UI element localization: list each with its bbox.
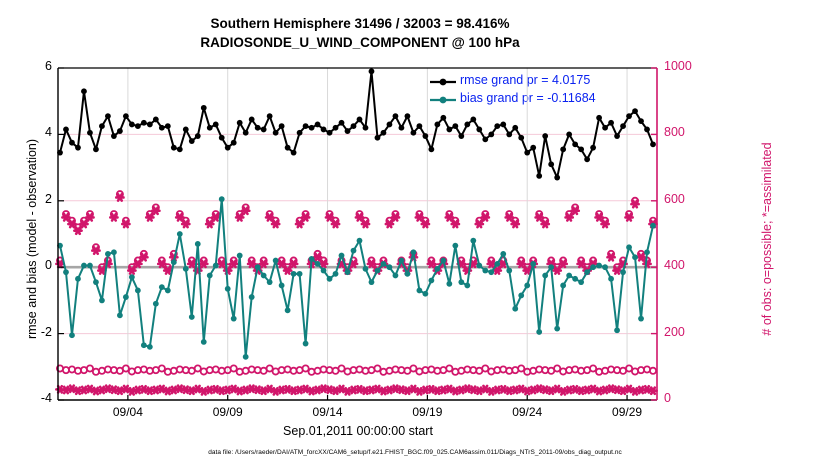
obs-assimilated-marker — [80, 221, 87, 227]
obs-assimilated-marker — [302, 214, 309, 220]
series-point-rmse — [153, 117, 159, 123]
series-point-rmse — [99, 123, 105, 129]
series-point-bias — [375, 268, 381, 274]
obs-assimilated-marker — [122, 221, 129, 227]
obs-assimilated-marker — [416, 214, 423, 220]
obs-assimilated-marker — [134, 261, 141, 267]
series-point-bias — [381, 261, 387, 267]
obs-assimilated-marker — [631, 201, 638, 207]
obs-assimilated-marker — [74, 228, 81, 234]
series-point-bias — [141, 342, 147, 348]
obs-assimilated-marker — [272, 221, 279, 227]
obs-possible-marker — [650, 368, 656, 374]
series-point-rmse — [117, 128, 123, 134]
series-point-bias — [117, 312, 123, 318]
series-point-rmse — [249, 117, 255, 123]
obs-assimilated-marker — [518, 261, 525, 267]
series-point-bias — [644, 249, 650, 255]
series-point-bias — [81, 263, 87, 269]
series-point-bias — [482, 268, 488, 274]
series-point-rmse — [285, 145, 291, 151]
series-point-bias — [387, 264, 393, 270]
series-point-rmse — [536, 173, 542, 179]
series-point-rmse — [578, 146, 584, 152]
series-point-rmse — [291, 150, 297, 156]
series-point-bias — [249, 294, 255, 300]
series-point-rmse — [75, 145, 81, 151]
series-point-bias — [171, 259, 177, 265]
series-point-rmse — [542, 133, 548, 139]
series-point-bias — [219, 196, 225, 202]
obs-assimilated-marker — [542, 221, 549, 227]
obs-assimilated-marker — [128, 267, 135, 273]
series-point-bias — [596, 263, 602, 269]
series-point-rmse — [225, 145, 231, 151]
series-point-rmse — [147, 122, 153, 128]
series-point-rmse — [512, 125, 518, 131]
series-point-rmse — [93, 146, 99, 152]
series-point-rmse — [111, 133, 117, 139]
obs-assimilated-marker — [613, 267, 620, 273]
obs-assimilated-marker — [607, 254, 614, 260]
obs-assimilated-marker — [572, 208, 579, 214]
series-point-bias — [285, 307, 291, 313]
series-point-bias — [632, 254, 638, 260]
obs-assimilated-marker — [200, 261, 207, 267]
obs-assimilated-marker — [296, 221, 303, 227]
series-point-bias — [566, 273, 572, 279]
series-point-rmse — [644, 127, 650, 133]
series-point-bias — [231, 316, 237, 322]
obs-assimilated-marker — [314, 254, 321, 260]
obs-assimilated-marker — [248, 261, 255, 267]
series-point-rmse — [381, 130, 387, 136]
series-point-rmse — [452, 123, 458, 129]
series-point-rmse — [297, 130, 303, 136]
series-point-rmse — [213, 122, 219, 128]
series-point-rmse — [243, 130, 249, 136]
series-point-bias — [237, 253, 243, 259]
series-point-rmse — [632, 108, 638, 114]
series-point-rmse — [596, 115, 602, 121]
series-point-bias — [440, 258, 446, 264]
series-point-bias — [351, 248, 357, 254]
obs-assimilated-marker — [536, 214, 543, 220]
series-point-bias — [512, 306, 518, 312]
series-point-bias — [458, 279, 464, 285]
plot-area — [0, 0, 830, 470]
series-point-bias — [614, 327, 620, 333]
obs-assimilated-marker — [601, 221, 608, 227]
series-point-bias — [183, 266, 189, 272]
obs-assimilated-marker — [637, 254, 644, 260]
series-point-bias — [446, 281, 452, 287]
series-point-rmse — [165, 123, 171, 129]
obs-assimilated-marker — [595, 214, 602, 220]
series-point-bias — [405, 271, 411, 277]
series-point-bias — [189, 314, 195, 320]
obs-assimilated-marker — [566, 214, 573, 220]
obs-assimilated-marker — [368, 261, 375, 267]
series-point-bias — [303, 341, 309, 347]
obs-assimilated-marker — [92, 247, 99, 253]
series-point-rmse — [458, 133, 464, 139]
obs-assimilated-marker — [428, 261, 435, 267]
series-point-rmse — [321, 127, 327, 133]
obs-assimilated-marker — [452, 221, 459, 227]
series-point-bias — [309, 256, 315, 262]
obs-assimilated-marker — [182, 221, 189, 227]
obs-assimilated-marker — [320, 261, 327, 267]
series-point-bias — [195, 241, 201, 247]
series-point-rmse — [440, 115, 446, 121]
obs-assimilated-marker — [362, 221, 369, 227]
series-point-rmse — [231, 140, 237, 146]
obs-assimilated-marker — [356, 214, 363, 220]
series-point-bias — [255, 264, 261, 270]
series-point-bias — [602, 264, 608, 270]
series-point-rmse — [141, 120, 147, 126]
series-point-rmse — [399, 125, 405, 131]
series-point-rmse — [309, 125, 315, 131]
series-point-bias — [69, 332, 75, 338]
series-point-rmse — [237, 120, 243, 126]
obs-assimilated-marker — [290, 261, 297, 267]
series-point-rmse — [584, 156, 590, 162]
series-point-bias — [321, 268, 327, 274]
obs-assimilated-marker — [386, 221, 393, 227]
series-point-bias — [626, 244, 632, 250]
legend-marker-0 — [440, 79, 447, 86]
obs-assimilated-marker — [62, 214, 69, 220]
series-point-bias — [530, 261, 536, 267]
obs-assimilated-marker — [158, 261, 165, 267]
series-point-rmse — [434, 122, 440, 128]
series-point-bias — [63, 269, 69, 275]
series-point-rmse — [554, 175, 560, 181]
obs-assimilated-marker — [422, 221, 429, 227]
series-point-bias — [267, 279, 273, 285]
series-point-rmse — [608, 120, 614, 126]
series-point-rmse — [411, 130, 417, 136]
series-point-bias — [524, 283, 530, 289]
obs-assimilated-marker — [266, 214, 273, 220]
series-point-bias — [428, 278, 434, 284]
series-point-bias — [99, 298, 105, 304]
series-point-bias — [291, 271, 297, 277]
series-point-bias — [578, 279, 584, 285]
series-point-rmse — [428, 146, 434, 152]
obs-assimilated-marker — [212, 214, 219, 220]
series-point-rmse — [488, 132, 494, 138]
series-point-bias — [572, 276, 578, 282]
obs-assimilated-marker — [554, 267, 561, 273]
series-point-rmse — [351, 123, 357, 129]
series-point-rmse — [267, 113, 273, 119]
series-point-rmse — [476, 127, 482, 133]
series-point-bias — [333, 271, 339, 277]
series-point-rmse — [123, 113, 129, 119]
series-point-rmse — [506, 132, 512, 138]
obs-assimilated-marker — [488, 261, 495, 267]
series-point-bias — [369, 279, 375, 285]
series-point-rmse — [63, 127, 69, 133]
obs-assimilated-marker — [332, 221, 339, 227]
series-point-rmse — [572, 141, 578, 147]
series-point-rmse — [363, 125, 369, 131]
series-point-rmse — [530, 145, 536, 151]
obs-assimilated-marker — [649, 388, 656, 394]
series-point-bias — [201, 339, 207, 345]
series-point-bias — [213, 263, 219, 269]
series-point-rmse — [494, 123, 500, 129]
series-point-rmse — [387, 122, 393, 128]
series-point-rmse — [470, 117, 476, 123]
series-point-bias — [494, 261, 500, 267]
series-point-rmse — [638, 118, 644, 124]
series-point-rmse — [422, 133, 428, 139]
obs-assimilated-marker — [476, 221, 483, 227]
obs-assimilated-marker — [140, 254, 147, 260]
obs-assimilated-marker — [176, 214, 183, 220]
obs-assimilated-marker — [224, 267, 231, 273]
series-point-bias — [297, 271, 303, 277]
obs-assimilated-marker — [68, 221, 75, 227]
series-point-bias — [147, 344, 153, 350]
series-point-bias — [411, 249, 417, 255]
obs-assimilated-marker — [110, 214, 117, 220]
series-point-rmse — [446, 127, 452, 133]
series-point-bias — [470, 238, 476, 244]
obs-assimilated-marker — [152, 208, 159, 214]
obs-assimilated-marker — [284, 267, 291, 273]
series-point-rmse — [339, 120, 345, 126]
series-point-rmse — [261, 127, 267, 133]
series-point-bias — [422, 291, 428, 297]
series-point-bias — [129, 274, 135, 280]
series-point-bias — [243, 354, 249, 360]
series-point-rmse — [482, 136, 488, 142]
series-point-bias — [207, 273, 213, 279]
series-point-bias — [536, 329, 542, 335]
obs-assimilated-marker — [326, 214, 333, 220]
series-point-rmse — [345, 128, 351, 134]
series-point-bias — [554, 326, 560, 332]
series-point-bias — [177, 231, 183, 237]
series-point-bias — [153, 301, 159, 307]
series-point-rmse — [87, 130, 93, 136]
series-point-bias — [548, 264, 554, 270]
series-point-rmse — [105, 113, 111, 119]
series-point-rmse — [602, 125, 608, 131]
obs-assimilated-marker — [230, 261, 237, 267]
series-point-rmse — [560, 146, 566, 152]
series-point-bias — [584, 269, 590, 275]
series-point-rmse — [315, 122, 321, 128]
series-point-bias — [327, 276, 333, 282]
series-point-bias — [560, 283, 566, 289]
figure-canvas: Southern Hemisphere 31496 / 32003 = 98.4… — [0, 0, 830, 470]
series-point-bias — [273, 258, 279, 264]
series-point-bias — [416, 288, 422, 294]
series-point-rmse — [614, 133, 620, 139]
series-point-rmse — [303, 123, 309, 129]
obs-assimilated-marker — [482, 214, 489, 220]
series-point-rmse — [566, 132, 572, 138]
series-point-rmse — [375, 135, 381, 141]
series-point-rmse — [69, 140, 75, 146]
series-point-bias — [315, 261, 321, 267]
series-point-rmse — [590, 145, 596, 151]
series-point-bias — [506, 268, 512, 274]
obs-assimilated-marker — [86, 214, 93, 220]
series-point-rmse — [369, 68, 375, 74]
obs-assimilated-marker — [164, 267, 171, 273]
series-point-bias — [279, 283, 285, 289]
series-point-rmse — [548, 161, 554, 167]
series-point-bias — [357, 238, 363, 244]
series-point-rmse — [81, 88, 87, 94]
series-point-rmse — [333, 125, 339, 131]
series-point-bias — [165, 288, 171, 294]
obs-assimilated-marker — [206, 221, 213, 227]
legend-marker-1 — [440, 97, 447, 104]
obs-assimilated-marker — [236, 214, 243, 220]
series-point-rmse — [327, 130, 333, 136]
obs-assimilated-marker — [506, 214, 513, 220]
obs-assimilated-marker — [188, 261, 195, 267]
series-point-bias — [542, 273, 548, 279]
series-point-rmse — [201, 105, 207, 111]
series-point-bias — [488, 269, 494, 275]
obs-assimilated-marker — [218, 261, 225, 267]
series-point-rmse — [171, 145, 177, 151]
series-point-rmse — [620, 123, 626, 129]
series-point-bias — [345, 269, 351, 275]
series-point-rmse — [195, 133, 201, 139]
series-point-rmse — [189, 138, 195, 144]
series-point-rmse — [518, 135, 524, 141]
obs-assimilated-marker — [242, 208, 249, 214]
series-point-rmse — [159, 125, 165, 131]
series-point-rmse — [500, 122, 506, 128]
series-point-bias — [650, 223, 656, 229]
series-point-rmse — [405, 113, 411, 119]
series-point-bias — [123, 294, 129, 300]
series-point-bias — [590, 264, 596, 270]
obs-assimilated-marker — [625, 214, 632, 220]
obs-assimilated-marker — [446, 214, 453, 220]
series-point-rmse — [524, 150, 530, 156]
series-point-rmse — [135, 123, 141, 129]
series-point-bias — [135, 288, 141, 294]
obs-assimilated-marker — [146, 214, 153, 220]
series-point-bias — [608, 276, 614, 282]
series-point-bias — [93, 279, 99, 285]
series-point-rmse — [279, 123, 285, 129]
obs-assimilated-marker — [278, 261, 285, 267]
series-point-bias — [434, 266, 440, 272]
series-point-bias — [464, 283, 470, 289]
obs-assimilated-marker — [392, 214, 399, 220]
series-point-rmse — [273, 130, 279, 136]
series-point-rmse — [255, 125, 261, 131]
series-point-bias — [111, 249, 117, 255]
series-point-bias — [75, 276, 81, 282]
obs-assimilated-marker — [560, 261, 567, 267]
series-point-bias — [363, 266, 369, 272]
series-point-rmse — [357, 117, 363, 123]
series-point-rmse — [183, 127, 189, 133]
series-point-bias — [399, 258, 405, 264]
series-point-rmse — [219, 135, 225, 141]
series-point-bias — [452, 243, 458, 249]
series-point-rmse — [626, 113, 632, 119]
obs-assimilated-marker — [98, 267, 105, 273]
series-point-rmse — [207, 125, 213, 131]
series-point-bias — [620, 269, 626, 275]
obs-assimilated-marker — [260, 261, 267, 267]
series-point-bias — [476, 263, 482, 269]
series-point-bias — [261, 273, 267, 279]
obs-assimilated-marker — [512, 221, 519, 227]
series-point-rmse — [393, 113, 399, 119]
series-point-bias — [518, 293, 524, 299]
series-point-bias — [87, 263, 93, 269]
series-point-rmse — [416, 123, 422, 129]
series-point-bias — [500, 251, 506, 257]
series-point-rmse — [650, 141, 656, 147]
obs-assimilated-marker — [578, 261, 585, 267]
series-point-bias — [105, 251, 111, 257]
series-point-bias — [638, 316, 644, 322]
obs-assimilated-marker — [116, 194, 123, 200]
series-point-rmse — [464, 122, 470, 128]
series-point-rmse — [177, 146, 183, 152]
series-point-bias — [225, 286, 231, 292]
series-point-rmse — [129, 122, 135, 128]
series-point-bias — [159, 284, 165, 290]
series-point-bias — [339, 253, 345, 259]
series-point-bias — [393, 273, 399, 279]
